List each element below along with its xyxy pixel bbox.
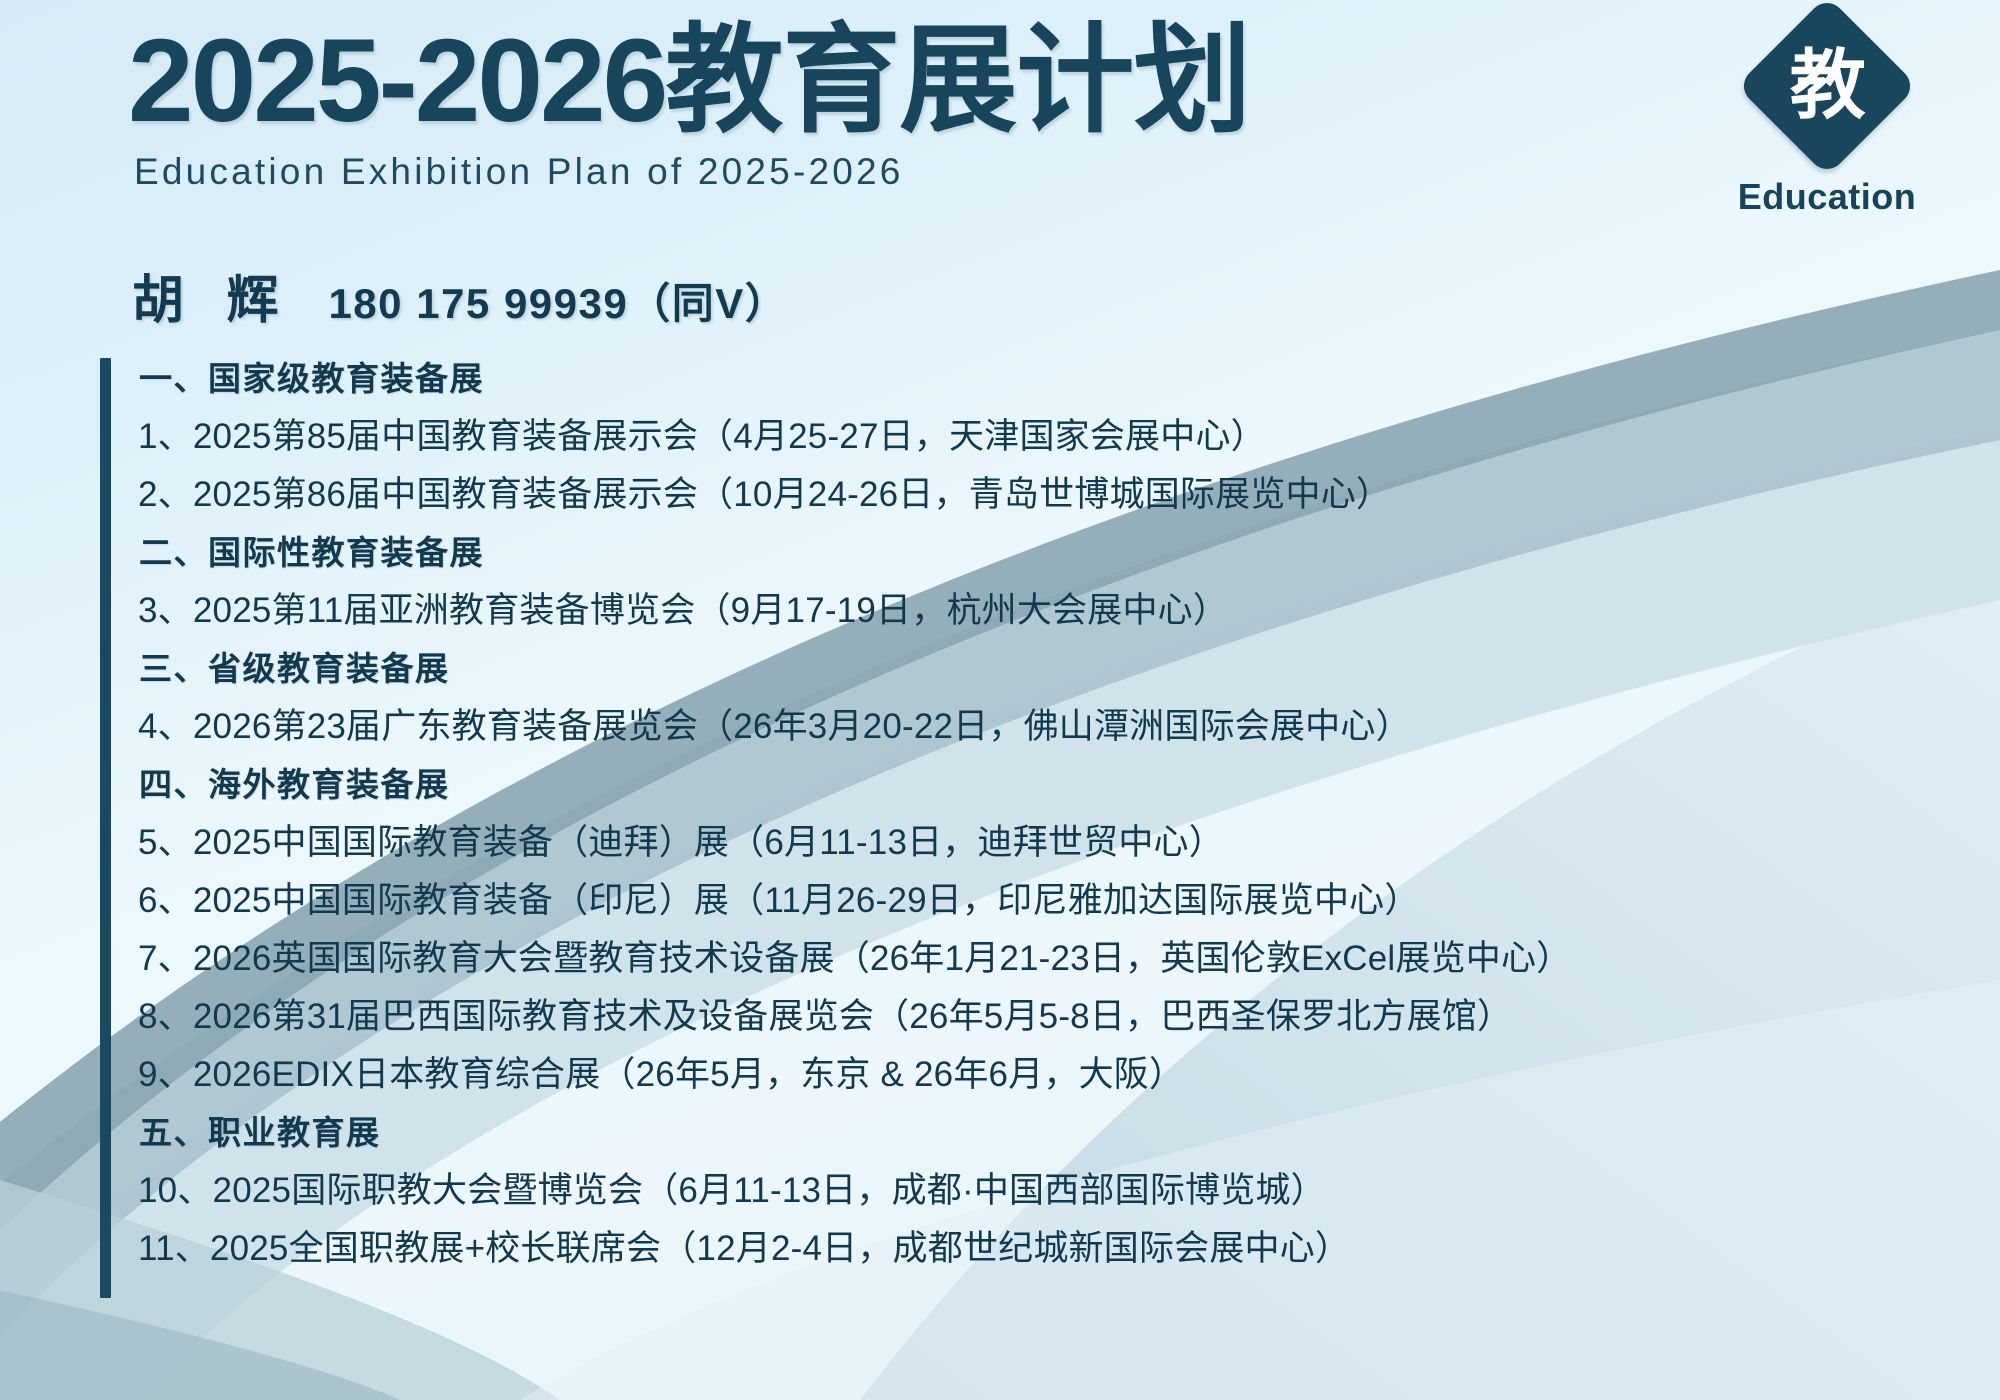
section-heading-5: 五、职业教育展 xyxy=(130,1104,1660,1162)
list-item-10: 10、2025国际职教大会暨博览会（6月11-13日，成都·中国西部国际博览城） xyxy=(130,1162,1660,1220)
list-item-2: 2、2025第86届中国教育装备展示会（10月24-26日，青岛世博城国际展览中… xyxy=(130,466,1660,524)
list-item-5: 5、2025中国国际教育装备（迪拜）展（6月11-13日，迪拜世贸中心） xyxy=(130,814,1660,872)
left-rail-divider xyxy=(100,358,111,1298)
list-item-7: 7、2026英国国际教育大会暨教育技术设备展（26年1月21-23日，英国伦敦E… xyxy=(130,930,1660,988)
list-item-1: 1、2025第85届中国教育装备展示会（4月25-27日，天津国家会展中心） xyxy=(130,408,1660,466)
contact-row: 胡 辉 180 175 99939（同V） xyxy=(132,258,788,333)
list-item-6: 6、2025中国国际教育装备（印尼）展（11月26-29日，印尼雅加达国际展览中… xyxy=(130,872,1660,930)
list-item-8: 8、2026第31届巴西国际教育技术及设备展览会（26年5月5-8日，巴西圣保罗… xyxy=(130,988,1660,1046)
section-heading-2: 二、国际性教育装备展 xyxy=(130,524,1660,582)
contact-name: 胡 辉 xyxy=(132,258,292,333)
contact-phone: 180 175 99939（同V） xyxy=(328,270,788,331)
page-title: 2025-2026教育展计划 xyxy=(128,18,1688,145)
section-heading-3: 三、省级教育装备展 xyxy=(130,640,1660,698)
poster-header: 2025-2026教育展计划 Education Exhibition Plan… xyxy=(128,18,1688,193)
section-heading-4: 四、海外教育装备展 xyxy=(130,756,1660,814)
list-item-9: 9、2026EDIX日本教育综合展（26年5月，东京 & 26年6月，大阪） xyxy=(130,1046,1660,1104)
list-item-11: 11、2025全国职教展+校长联席会（12月2-4日，成都世纪城新国际会展中心） xyxy=(130,1220,1660,1278)
page-subtitle: Education Exhibition Plan of 2025-2026 xyxy=(134,151,1688,193)
brand-label: Education xyxy=(1712,176,1942,218)
title-chinese: 教育展计划 xyxy=(665,15,1250,147)
section-heading-1: 一、国家级教育装备展 xyxy=(130,350,1660,408)
exhibition-rows: 一、国家级教育装备展1、2025第85届中国教育装备展示会（4月25-27日，天… xyxy=(130,350,1660,1278)
list-item-3: 3、2025第11届亚洲教育装备博览会（9月17-19日，杭州大会展中心） xyxy=(130,582,1660,640)
list-item-4: 4、2026第23届广东教育装备展览会（26年3月20-22日，佛山潭洲国际会展… xyxy=(130,698,1660,756)
brand-block: 教 Education xyxy=(1712,22,1942,218)
logo-character: 教 xyxy=(1790,47,1866,123)
exhibition-list: 一、国家级教育装备展1、2025第85届中国教育装备展示会（4月25-27日，天… xyxy=(100,350,1660,1278)
poster-root: 2025-2026教育展计划 Education Exhibition Plan… xyxy=(0,0,2000,1400)
title-year: 2025-2026 xyxy=(128,15,665,147)
education-diamond-logo-icon: 教 xyxy=(1736,0,1917,177)
